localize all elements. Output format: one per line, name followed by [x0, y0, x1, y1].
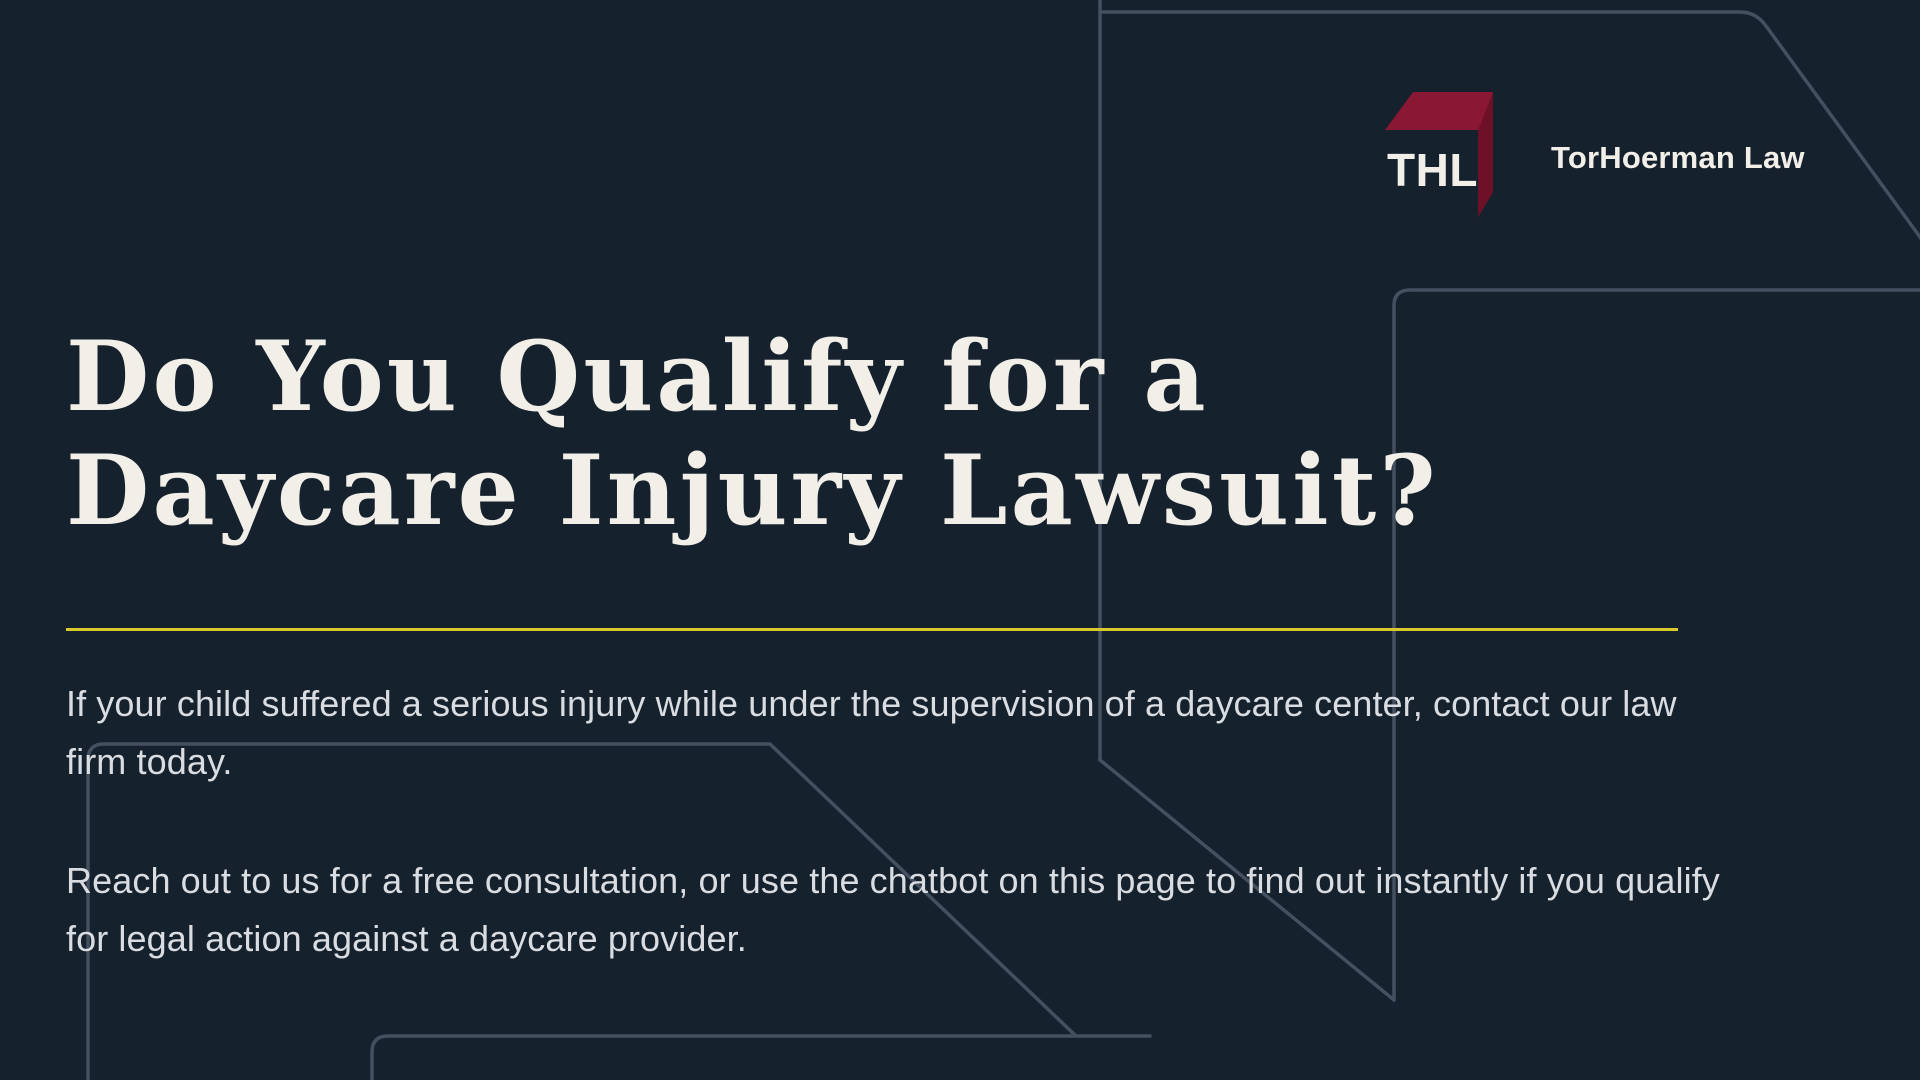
body-paragraph-1: If your child suffered a serious injury …	[66, 675, 1746, 792]
page-title: Do You Qualify for a Daycare Injury Laws…	[66, 320, 1766, 548]
gold-divider	[66, 628, 1678, 631]
logo-monogram: THL	[1387, 147, 1478, 193]
logo-lockup[interactable]: THL TorHoerman Law	[1385, 92, 1805, 217]
slide-canvas: THL TorHoerman Law Do You Qualify for a …	[0, 0, 1920, 1080]
body-copy: If your child suffered a serious injury …	[66, 675, 1746, 968]
thl-flag-mark-icon: THL	[1385, 92, 1515, 217]
logo-wordmark: TorHoerman Law	[1551, 142, 1805, 173]
body-paragraph-2: Reach out to us for a free consultation,…	[66, 852, 1746, 969]
bg-shape-bottom-center	[372, 1036, 1150, 1080]
